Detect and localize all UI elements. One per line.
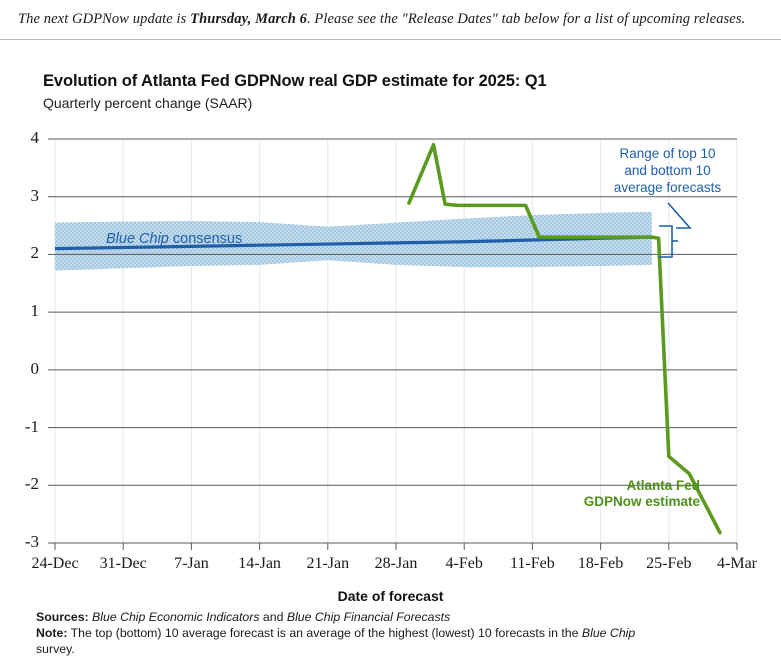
y-tick-label: 4 [5, 128, 39, 148]
y-tick-label: 0 [5, 359, 39, 379]
footer-note-text: The top (bottom) 10 average forecast is … [67, 626, 581, 640]
footer-sources-label: Sources: [36, 610, 89, 624]
footer-source-2: Blue Chip Financial Forecasts [287, 610, 450, 624]
footer-note-italic: Blue Chip [582, 626, 635, 640]
x-tick-label: 21-Jan [306, 555, 349, 573]
range-annotation-line3: average forecasts [600, 179, 735, 196]
gdpnow-annotation: Atlanta Fed GDPNow estimate [545, 478, 700, 510]
banner-text-before: The next GDPNow update is [18, 11, 190, 27]
banner-text-after: . Please see the "Release Dates" tab bel… [307, 11, 745, 27]
gdpnow-annotation-line2: GDPNow estimate [545, 494, 700, 510]
x-tick-label: 4-Feb [446, 555, 483, 573]
gdpnow-annotation-line1: Atlanta Fed [545, 478, 700, 494]
y-tick-label: -1 [5, 417, 39, 437]
gdpnow-estimate-line [409, 145, 720, 533]
x-tick-label: 4-Mar [717, 555, 757, 573]
footer-note-continued: survey. [36, 642, 75, 656]
x-axis-label: Date of forecast [0, 588, 781, 604]
x-tick-label: 11-Feb [510, 555, 555, 573]
bluechip-label-italic: Blue Chip [106, 231, 169, 247]
footer-note: Note: The top (bottom) 10 average foreca… [36, 626, 635, 640]
footer-sources: Sources: Blue Chip Economic Indicators a… [36, 610, 450, 624]
range-annotation-line1: Range of top 10 [600, 145, 735, 162]
banner-date: Thursday, March 6 [190, 11, 307, 27]
x-tick-label: 25-Feb [646, 555, 691, 573]
footer-sources-and: and [260, 610, 287, 624]
chart-subtitle: Quarterly percent change (SAAR) [43, 95, 252, 111]
bluechip-label-rest: consensus [169, 231, 242, 247]
y-tick-label: 2 [5, 243, 39, 263]
update-banner: The next GDPNow update is Thursday, Marc… [0, 0, 781, 40]
chart-title: Evolution of Atlanta Fed GDPNow real GDP… [43, 72, 547, 91]
x-tick-label: 28-Jan [375, 555, 418, 573]
x-tick-label: 14-Jan [238, 555, 281, 573]
range-annotation: Range of top 10 and bottom 10 average fo… [600, 145, 735, 196]
x-tick-label: 31-Dec [100, 555, 147, 573]
annotation-leader-lines [659, 203, 690, 257]
y-tick-label: -3 [5, 532, 39, 552]
bluechip-consensus-label: Blue Chip consensus [106, 231, 242, 247]
x-tick-label: 18-Feb [578, 555, 623, 573]
x-tick-label: 24-Dec [31, 555, 78, 573]
y-tick-label: -2 [5, 474, 39, 494]
y-tick-label: 1 [5, 301, 39, 321]
footer-source-1: Blue Chip Economic Indicators [92, 610, 259, 624]
y-tick-label: 3 [5, 186, 39, 206]
banner-text: The next GDPNow update is Thursday, Marc… [18, 11, 745, 28]
footer-note-label: Note: [36, 626, 67, 640]
x-tick-label: 7-Jan [174, 555, 209, 573]
range-annotation-line2: and bottom 10 [600, 162, 735, 179]
